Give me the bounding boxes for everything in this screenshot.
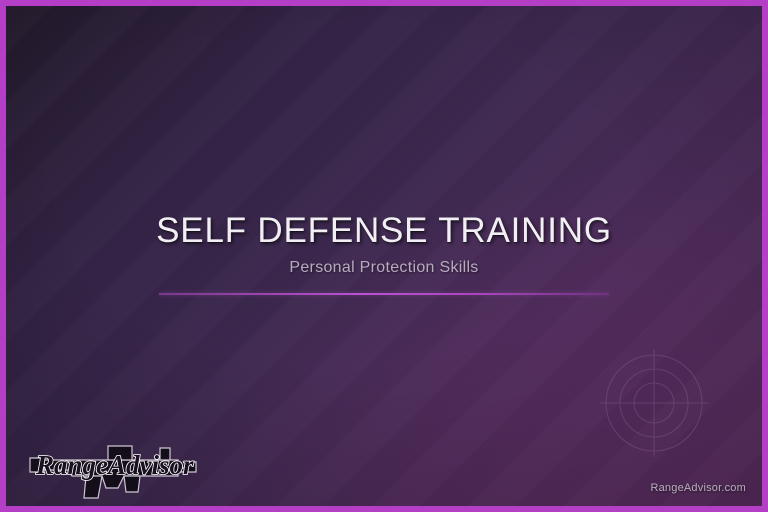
logo-wordmark: RangeAdvisor bbox=[35, 450, 194, 480]
page-subtitle: Personal Protection Skills bbox=[6, 259, 762, 277]
site-watermark: RangeAdvisor.com bbox=[650, 482, 746, 494]
crosshair-target-icon bbox=[598, 347, 710, 459]
title-block: SELF DEFENSE TRAINING Personal Protectio… bbox=[6, 210, 762, 295]
brand-logo: RangeAdvisor bbox=[28, 434, 200, 504]
presentation-slide: SELF DEFENSE TRAINING Personal Protectio… bbox=[0, 0, 768, 512]
divider-rule bbox=[159, 293, 609, 295]
page-title: SELF DEFENSE TRAINING bbox=[6, 210, 762, 251]
